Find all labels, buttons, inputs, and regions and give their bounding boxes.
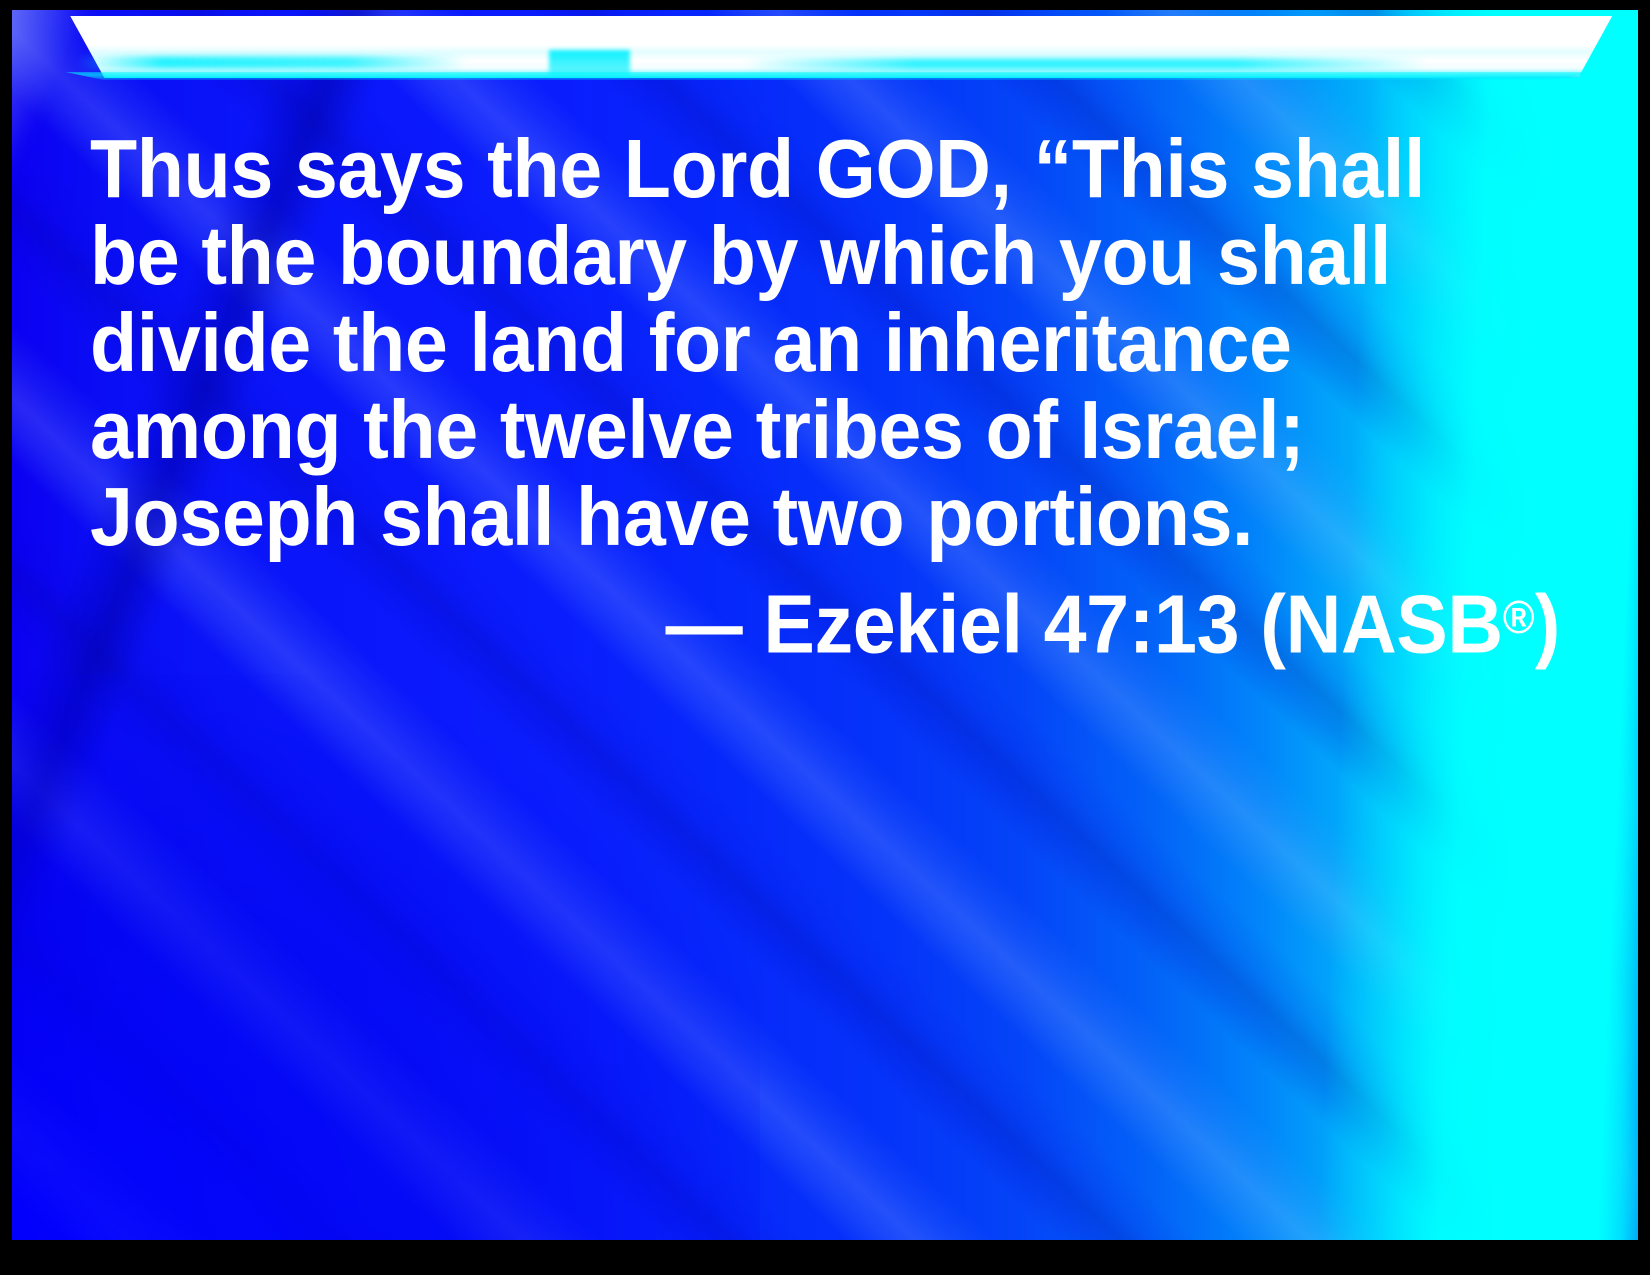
- top-glow-wisp-right: [744, 58, 1427, 70]
- registered-trademark-icon: ®: [1503, 591, 1535, 643]
- verse-attribution: — Ezekiel 47:13 (NASB®): [193, 574, 1560, 668]
- slide-canvas: Thus says the Lord GOD, “This shall be t…: [12, 10, 1638, 1240]
- attribution-em-dash: —: [665, 578, 763, 671]
- top-glow-cyan-edge: [58, 72, 1603, 80]
- verse-body-text: Thus says the Lord GOD, “This shall be t…: [90, 125, 1457, 560]
- background-corner-shading: [12, 674, 760, 1240]
- top-glow-band: [12, 10, 1638, 102]
- attribution-reference: Ezekiel 47:13 (NASB: [763, 578, 1502, 671]
- attribution-close-paren: ): [1535, 578, 1560, 671]
- verse-block: Thus says the Lord GOD, “This shall be t…: [90, 125, 1560, 668]
- slide-frame: Thus says the Lord GOD, “This shall be t…: [0, 0, 1650, 1275]
- top-glow-wisp-left: [77, 56, 467, 69]
